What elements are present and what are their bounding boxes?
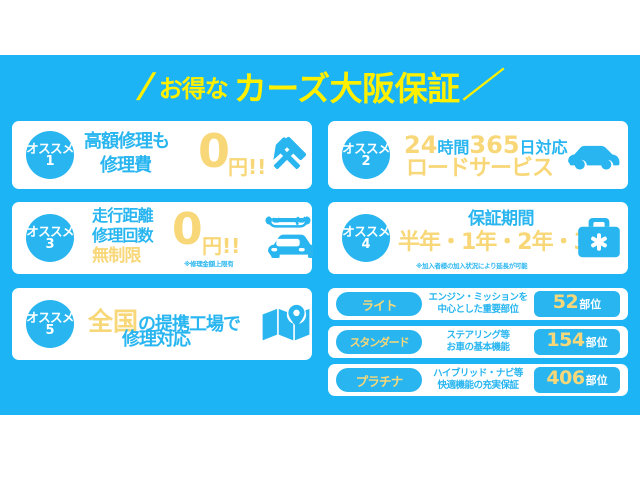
wrench-car-icon <box>262 210 314 266</box>
recommend-badge-2: オススメ 2 <box>342 131 390 179</box>
recommend-badge-label: オススメ <box>342 225 390 238</box>
feature-2-hours-unit: 時間 <box>437 138 469 157</box>
recommend-badge-label: オススメ <box>26 142 74 155</box>
plan-count-badge: 406 部位 <box>534 367 620 393</box>
feature-2-days-number: 365 <box>469 131 519 159</box>
recommend-badge-label: オススメ <box>342 142 390 155</box>
plan-description: エンジン・ミッションを 中心とした重要部位 <box>422 292 534 316</box>
feature-3-price-unit: 円!! <box>202 235 240 257</box>
plan-name-pill: ライト <box>336 292 422 316</box>
recommend-badge-4: オススメ 4 <box>342 214 390 262</box>
recommend-badge-label: オススメ <box>26 225 74 238</box>
plan-row-standard[interactable]: スタンダード ステアリング等 お車の基本機能 154 部位 <box>328 326 628 358</box>
plan-count-unit: 部位 <box>579 296 601 312</box>
feature-4-line1: 保証期間 <box>468 210 534 229</box>
plan-row-light[interactable]: ライト エンジン・ミッションを 中心とした重要部位 52 部位 <box>328 288 628 320</box>
recommend-badge-label: オススメ <box>26 311 74 324</box>
feature-2-days-unit: 日対応 <box>520 138 568 157</box>
recommend-badge-5: オススメ 5 <box>26 300 74 348</box>
headline-main: カーズ大阪保証 <box>234 62 460 110</box>
plan-count-badge: 52 部位 <box>534 291 620 317</box>
recommend-badge-number: 5 <box>45 324 54 338</box>
feature-card-2: オススメ 2 24時間365日対応 ロードサービス <box>328 121 628 189</box>
feature-5-line2: 修理対応 <box>122 330 190 350</box>
warranty-poster: \ お得な カーズ大阪保証 ／ オススメ 1 高額修理も 修理費 0 円!! <box>0 0 640 480</box>
plan-count-badge: 154 部位 <box>534 329 620 355</box>
feature-card-1: オススメ 1 高額修理も 修理費 0 円!! <box>12 121 312 189</box>
recommend-badge-1: オススメ 1 <box>26 131 74 179</box>
plan-count-number: 52 <box>553 291 578 313</box>
map-pin-icon <box>260 302 312 348</box>
plan-count-unit: 部位 <box>586 334 608 350</box>
plan-count-number: 406 <box>546 367 584 389</box>
headline-slash-left: \ <box>135 69 157 103</box>
plan-description: ステアリング等 お車の基本機能 <box>422 330 534 354</box>
plan-desc-line1: ハイブリッド・ナビ等 <box>433 368 523 379</box>
feature-1-line2: 修理費 <box>100 156 151 176</box>
feature-1-price-number: 0 <box>198 128 230 174</box>
plan-desc-line1: ステアリング等 <box>446 330 509 341</box>
feature-2-line1: 24時間365日対応 <box>404 131 568 159</box>
feature-2-line2: ロードサービス <box>406 157 553 182</box>
feature-3-note: ※修理金額上限有 <box>184 258 233 268</box>
plan-desc-line1: エンジン・ミッションを <box>428 292 527 303</box>
feature-card-4: オススメ 4 保証期間 半年・1年・2年・3年 ※加入者様の加入状況により延長が… <box>328 202 628 274</box>
plan-desc-line2: お車の基本機能 <box>446 342 509 353</box>
plan-desc-line2: 快適機能の充実保証 <box>437 380 518 391</box>
feature-1-line1: 高額修理も <box>84 132 169 152</box>
feature-3-line1: 走行距離 <box>92 207 153 225</box>
car-side-icon <box>564 135 622 177</box>
plan-name-pill: スタンダード <box>336 330 422 354</box>
feature-3-line2: 修理回数 <box>92 227 153 245</box>
recommend-badge-3: オススメ 3 <box>26 214 74 262</box>
feature-3-line3: 無制限 <box>92 247 141 266</box>
feature-1-price-unit: 円!! <box>228 156 266 178</box>
toolbox-asterisk-icon <box>574 212 624 264</box>
crossed-hammers-icon <box>264 133 310 179</box>
plan-row-platinum[interactable]: プラチナ ハイブリッド・ナビ等 快適機能の充実保証 406 部位 <box>328 364 628 396</box>
feature-2-hours-number: 24 <box>404 131 437 159</box>
feature-4-note: ※加入者様の加入状況により延長が可能 <box>416 260 527 270</box>
plan-desc-line2: 中心とした重要部位 <box>437 304 518 315</box>
recommend-badge-number: 3 <box>45 238 54 252</box>
plan-description: ハイブリッド・ナビ等 快適機能の充実保証 <box>422 368 534 392</box>
plan-count-number: 154 <box>546 329 584 351</box>
recommend-badge-number: 4 <box>361 238 370 252</box>
feature-3-price-number: 0 <box>172 208 203 252</box>
recommend-badge-number: 1 <box>45 155 54 169</box>
feature-card-5: オススメ 5 全国の提携工場で 修理対応 <box>12 288 312 360</box>
recommend-badge-number: 2 <box>361 155 370 169</box>
headline-prefix: お得な <box>159 69 228 104</box>
page-title: \ お得な カーズ大阪保証 ／ <box>0 62 640 110</box>
headline-slash-right: ／ <box>461 69 505 103</box>
feature-card-3: オススメ 3 走行距離 修理回数 無制限 0 円!! ※修理金額上限有 <box>12 202 312 274</box>
plan-name-pill: プラチナ <box>336 368 422 392</box>
plan-count-unit: 部位 <box>586 372 608 388</box>
